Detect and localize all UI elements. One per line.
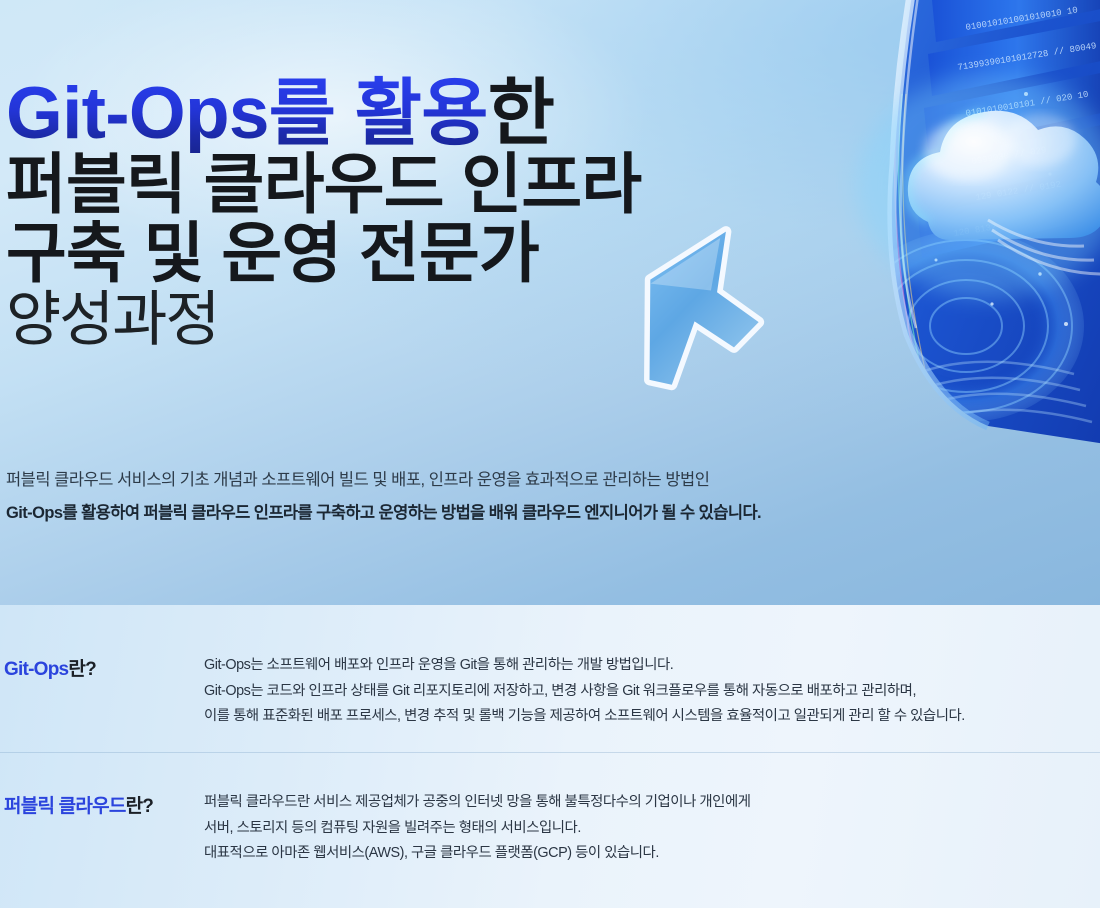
hero-section: 10 009 // 01001101 0011 010 932 - 8009 0…	[0, 0, 1100, 605]
headline-line-4: 양성과정	[6, 290, 826, 349]
svg-text:71399390101012728 // 80049: 71399390101012728 // 80049	[957, 41, 1097, 73]
svg-text:0101010010101 // 020 10: 0101010010101 // 020 10	[965, 90, 1089, 119]
headline-line-1-blue: Git-Ops를 활용	[6, 73, 488, 154]
definition-body-gitops-line-1: Git-Ops는 소프트웨어 배포와 인프라 운영을 Git을 통해 관리하는 …	[204, 653, 1094, 679]
definition-row-public-cloud: 퍼블릭 클라우드란? 퍼블릭 클라우드란 서비스 제공업체가 공중의 인터넷 망…	[0, 756, 1100, 867]
svg-text:129 0122 // 0192: 129 0122 // 0192	[975, 180, 1062, 203]
definition-body-public-cloud: 퍼블릭 클라우드란 서비스 제공업체가 공중의 인터넷 망을 통해 불특정다수의…	[204, 790, 1100, 867]
svg-text:120 8132: 120 8132	[953, 222, 997, 239]
definition-label-gitops-term: Git-Ops	[4, 659, 68, 680]
definition-label-gitops-suffix: 란?	[68, 659, 96, 680]
headline-line-1: Git-Ops를 활용한	[6, 78, 826, 150]
definition-label-gitops: Git-Ops란?	[4, 653, 204, 681]
headline-line-1-dark: 한	[488, 73, 554, 154]
definition-body-public-cloud-line-1: 퍼블릭 클라우드란 서비스 제공업체가 공중의 인터넷 망을 통해 불특정다수의…	[204, 790, 1094, 816]
definition-body-public-cloud-line-2: 서버, 스토리지 등의 컴퓨팅 자원을 빌려주는 형태의 서비스입니다.	[204, 816, 1094, 842]
definition-row-gitops: Git-Ops란? Git-Ops는 소프트웨어 배포와 인프라 운영을 Git…	[0, 605, 1100, 756]
definition-label-public-cloud-suffix: 란?	[126, 796, 154, 817]
definition-body-gitops-line-3: 이를 통해 표준화된 배포 프로세스, 변경 추적 및 롤백 기능을 제공하여 …	[204, 704, 1094, 730]
hero-description-line-2: Git-Ops를 활용하여 퍼블릭 클라우드 인프라를 구축하고 운영하는 방법…	[6, 501, 1016, 527]
headline-line-2: 퍼블릭 클라우드 인프라	[6, 152, 826, 217]
promo-banner-page: 10 009 // 01001101 0011 010 932 - 8009 0…	[0, 0, 1100, 908]
hero-description: 퍼블릭 클라우드 서비스의 기초 개념과 소프트웨어 빌드 및 배포, 인프라 …	[6, 468, 1016, 526]
cloud-glow	[856, 74, 1100, 298]
circuit-board-slab: 10 009 // 01001101 0011 010 932 - 8009 0…	[848, 0, 1100, 444]
page-title: Git-Ops를 활용한 퍼블릭 클라우드 인프라 구축 및 운영 전문가 양성…	[6, 78, 826, 349]
definition-body-gitops: Git-Ops는 소프트웨어 배포와 인프라 운영을 Git을 통해 관리하는 …	[204, 653, 1100, 730]
headline-line-3: 구축 및 운영 전문가	[6, 221, 826, 286]
hero-description-line-1: 퍼블릭 클라우드 서비스의 기초 개념과 소프트웨어 빌드 및 배포, 인프라 …	[6, 468, 1016, 494]
definition-body-public-cloud-line-3: 대표적으로 아마존 웹서비스(AWS), 구글 클라우드 플랫폼(GCP) 등이…	[204, 841, 1094, 867]
svg-text:0999030 // 029: 0999030 // 029	[971, 145, 1047, 167]
cloud-shape	[908, 111, 1100, 274]
definition-label-public-cloud: 퍼블릭 클라우드란?	[4, 790, 204, 818]
definition-body-gitops-line-2: Git-Ops는 코드와 인프라 상태를 Git 리포지토리에 저장하고, 변경…	[204, 679, 1094, 705]
definition-label-public-cloud-term: 퍼블릭 클라우드	[4, 796, 126, 817]
svg-text:010010101001010010 10: 010010101001010010 10	[965, 5, 1079, 33]
definitions-section: Git-Ops란? Git-Ops는 소프트웨어 배포와 인프라 운영을 Git…	[0, 605, 1100, 908]
